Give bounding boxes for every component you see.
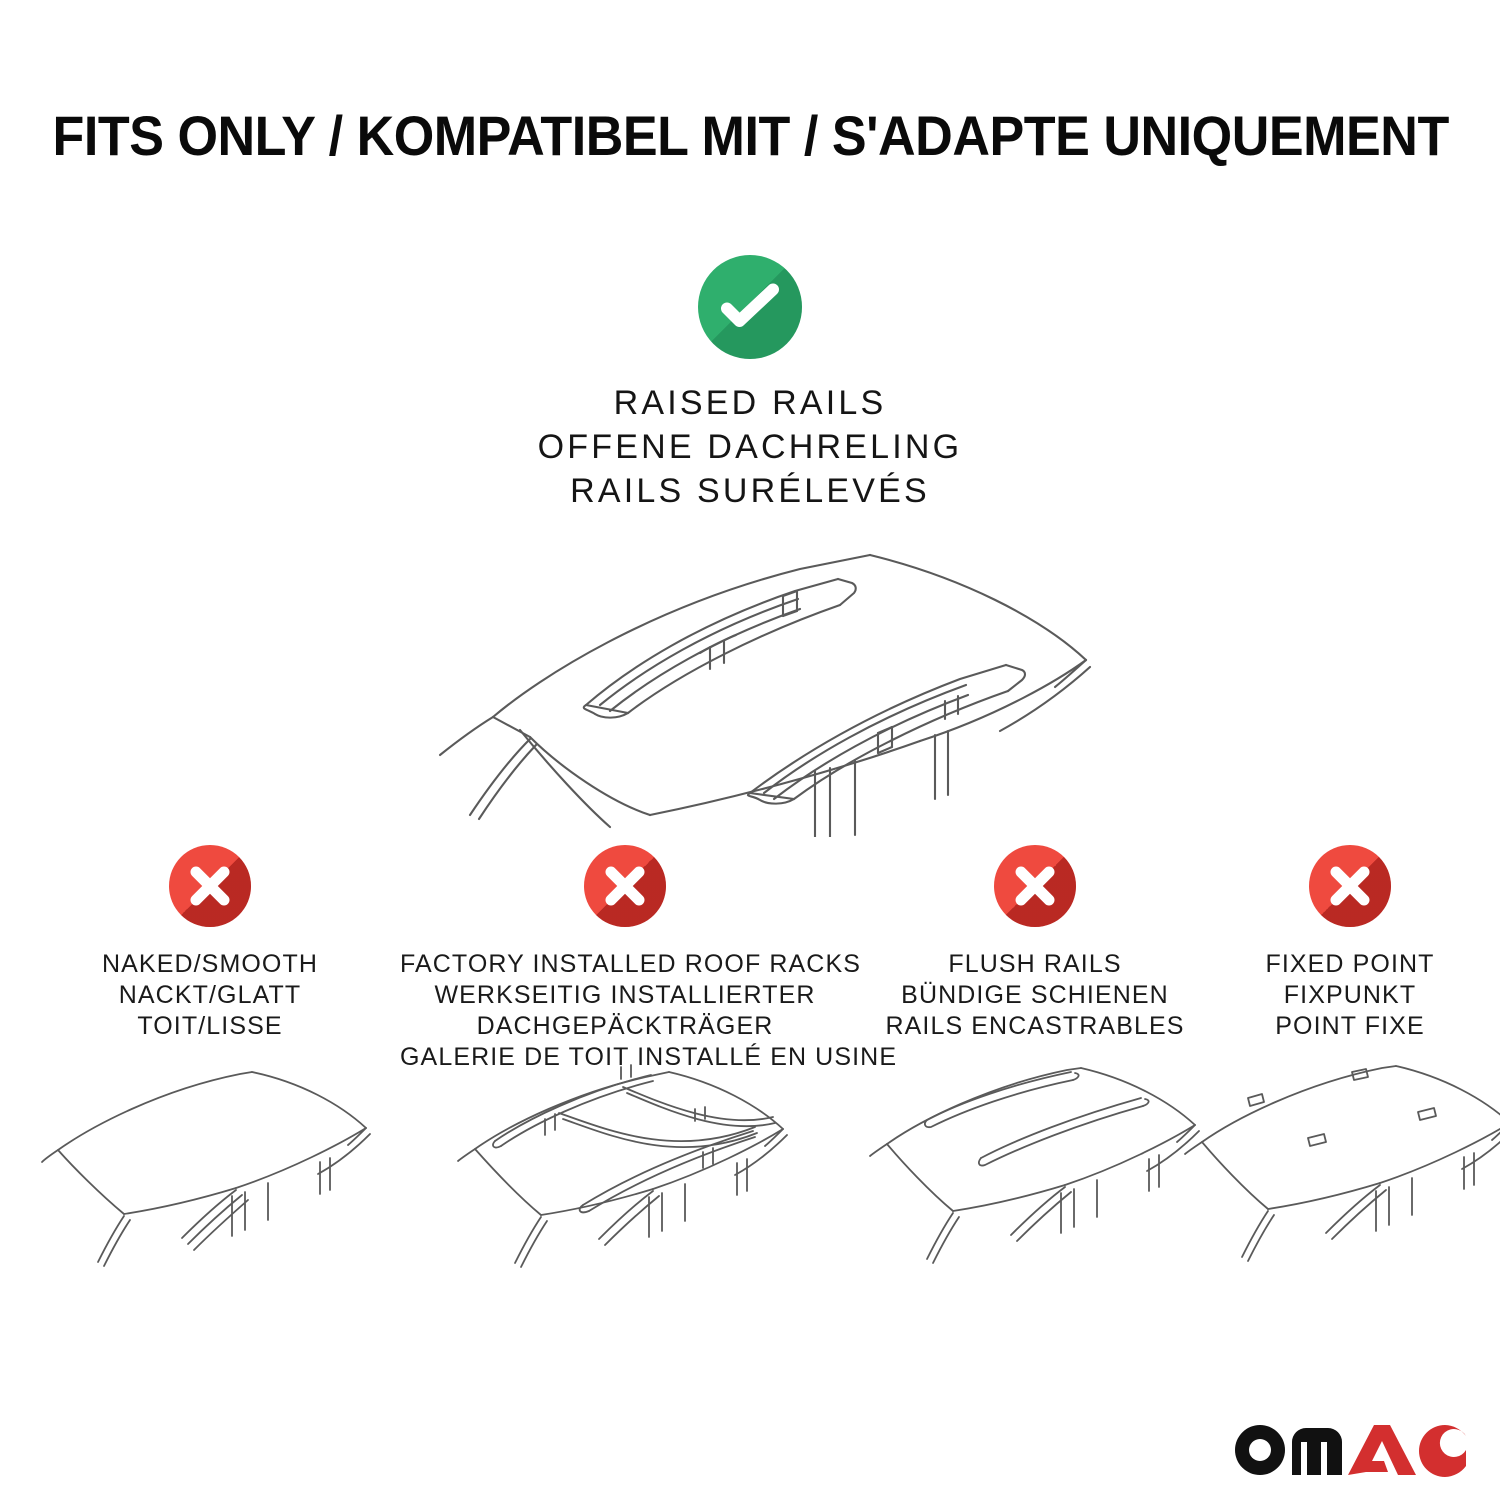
x-circle-icon bbox=[1309, 845, 1391, 927]
incompatible-item-naked-smooth: NAKED/SMOOTH NACKT/GLATT TOIT/LISSE bbox=[30, 845, 390, 1284]
car-roof-flush-rails-illustration bbox=[855, 1054, 1215, 1284]
x-circle-icon bbox=[584, 845, 666, 927]
icon-row bbox=[30, 845, 390, 941]
label-line-2: BÜNDIGE SCHIENEN bbox=[855, 980, 1215, 1011]
label-line-3: POINT FIXE bbox=[1210, 1011, 1490, 1042]
compatible-label-line-3: RAILS SURÉLEVÉS bbox=[0, 469, 1500, 513]
logo-letter-a bbox=[1348, 1425, 1416, 1475]
label-line-1: FACTORY INSTALLED ROOF RACKS bbox=[400, 949, 850, 980]
omac-logo: OMAC bbox=[1228, 1414, 1468, 1478]
car-roof-fixed-point-illustration bbox=[1180, 1054, 1490, 1284]
label-line-1: NAKED/SMOOTH bbox=[30, 949, 390, 980]
page-title: FITS ONLY / KOMPATIBEL MIT / S'ADAPTE UN… bbox=[53, 104, 1448, 168]
car-roof-raised-rails-illustration bbox=[0, 527, 1500, 842]
incompatible-label: FLUSH RAILS BÜNDIGE SCHIENEN RAILS ENCAS… bbox=[855, 949, 1215, 1042]
incompatible-label: NAKED/SMOOTH NACKT/GLATT TOIT/LISSE bbox=[30, 949, 390, 1042]
check-circle-icon bbox=[698, 255, 802, 359]
icon-row bbox=[400, 845, 850, 941]
label-line-1: FLUSH RAILS bbox=[855, 949, 1215, 980]
label-line-2: FIXPUNKT bbox=[1210, 980, 1490, 1011]
compatible-label-line-1: RAISED RAILS bbox=[0, 381, 1500, 425]
icon-row bbox=[855, 845, 1215, 941]
label-line-2: WERKSEITIG INSTALLIERTER bbox=[400, 980, 850, 1011]
car-roof-naked-smooth-illustration bbox=[30, 1054, 390, 1284]
compatible-label: RAISED RAILS OFFENE DACHRELING RAILS SUR… bbox=[0, 381, 1500, 513]
label-line-3: RAILS ENCASTRABLES bbox=[855, 1011, 1215, 1042]
icon-row bbox=[1210, 845, 1490, 941]
compatible-label-line-2: OFFENE DACHRELING bbox=[0, 425, 1500, 469]
incompatible-item-flush-rails: FLUSH RAILS BÜNDIGE SCHIENEN RAILS ENCAS… bbox=[855, 845, 1215, 1284]
incompatible-section: NAKED/SMOOTH NACKT/GLATT TOIT/LISSE bbox=[0, 845, 1500, 1305]
x-circle-icon bbox=[994, 845, 1076, 927]
incompatible-item-fixed-point: FIXED POINT FIXPUNKT POINT FIXE bbox=[1210, 845, 1490, 1284]
header: FITS ONLY / KOMPATIBEL MIT / S'ADAPTE UN… bbox=[0, 0, 1500, 200]
logo-letter-c bbox=[1419, 1425, 1466, 1477]
compatibility-infographic: FITS ONLY / KOMPATIBEL MIT / S'ADAPTE UN… bbox=[0, 0, 1500, 1500]
x-circle-icon bbox=[169, 845, 251, 927]
incompatible-label: FACTORY INSTALLED ROOF RACKS WERKSEITIG … bbox=[400, 949, 850, 1073]
car-roof-factory-roof-racks-illustration bbox=[400, 1057, 850, 1287]
incompatible-item-factory-roof-racks: FACTORY INSTALLED ROOF RACKS WERKSEITIG … bbox=[400, 845, 850, 1287]
label-line-2: NACKT/GLATT bbox=[30, 980, 390, 1011]
label-line-1: FIXED POINT bbox=[1210, 949, 1490, 980]
logo-letter-m bbox=[1292, 1428, 1342, 1475]
compatible-icon-row bbox=[0, 255, 1500, 375]
compatible-section: RAISED RAILS OFFENE DACHRELING RAILS SUR… bbox=[0, 255, 1500, 842]
logo-letter-o bbox=[1235, 1425, 1285, 1475]
label-line-3: DACHGEPÄCKTRÄGER bbox=[400, 1011, 850, 1042]
incompatible-label: FIXED POINT FIXPUNKT POINT FIXE bbox=[1210, 949, 1490, 1042]
label-line-3: TOIT/LISSE bbox=[30, 1011, 390, 1042]
